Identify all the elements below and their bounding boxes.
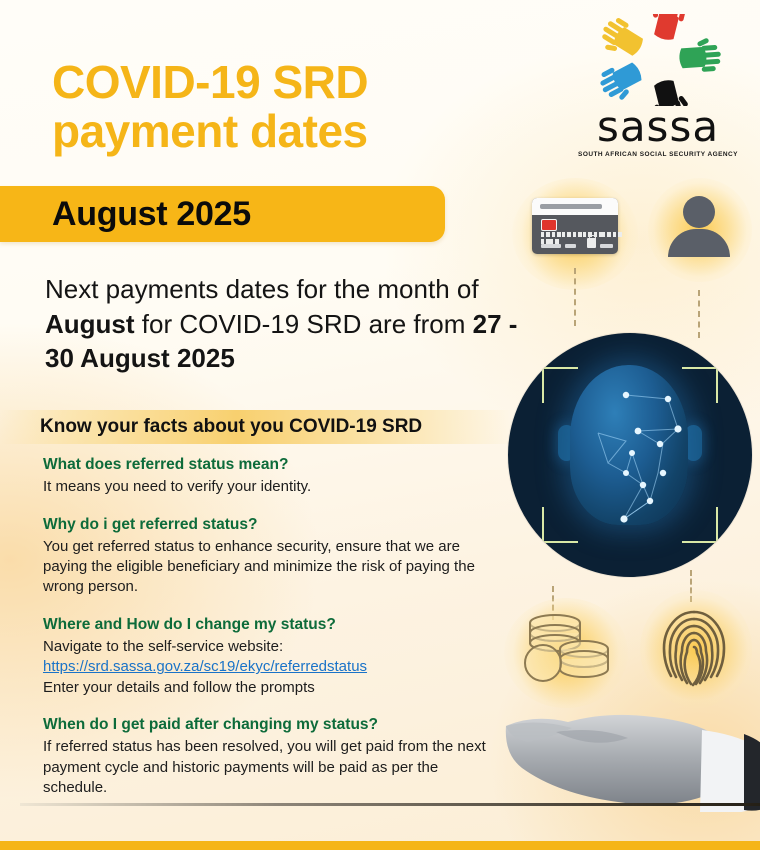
lede-paragraph: Next payments dates for the month of Aug… — [45, 272, 520, 376]
faq-answer: It means you need to verify your identit… — [43, 477, 488, 497]
face-mesh-overlay — [508, 333, 752, 577]
self-service-link[interactable]: https://srd.sassa.gov.za/sc19/ekyc/refer… — [43, 658, 367, 675]
faq-item: When do I get paid after changing my sta… — [43, 715, 488, 798]
title-line-2: payment dates — [52, 107, 472, 156]
faq-answer-intro: Navigate to the self-service website: — [43, 637, 488, 657]
know-your-facts-bar: Know your facts about you COVID-19 SRD — [0, 410, 515, 444]
lede-bold-month: August — [45, 309, 135, 339]
faq-question: Where and How do I change my status? — [43, 615, 488, 635]
fingerprint-glyph — [657, 604, 731, 696]
sassa-hands-emblem — [578, 14, 738, 106]
coins-icon — [521, 612, 613, 684]
faq-question: When do I get paid after changing my sta… — [43, 715, 488, 735]
connector-dash-person — [698, 290, 700, 338]
lede-text-2: for COVID-19 SRD are from — [135, 309, 473, 339]
sassa-subtitle: SOUTH AFRICAN SOCIAL SECURITY AGENCY — [578, 151, 738, 158]
title-line-1: COVID-19 SRD — [52, 56, 368, 108]
bottom-accent-bar — [0, 841, 760, 850]
month-banner: August 2025 — [0, 186, 445, 242]
face-scan-icon — [508, 333, 752, 577]
open-hand-glyph — [496, 704, 760, 812]
bottom-divider — [20, 803, 760, 806]
credit-card-icon — [532, 198, 618, 254]
faq-answer: If referred status has been resolved, yo… — [43, 737, 488, 798]
fingerprint-icon — [657, 604, 731, 696]
faq-list: What does referred status mean? It means… — [43, 455, 488, 815]
faq-item: Where and How do I change my status? Nav… — [43, 615, 488, 698]
faq-question: Why do i get referred status? — [43, 515, 488, 535]
faq-answer: You get referred status to enhance secur… — [43, 537, 488, 598]
sassa-logo: sassa SOUTH AFRICAN SOCIAL SECURITY AGEN… — [578, 14, 738, 162]
lede-text-1: Next payments dates for the month of — [45, 274, 479, 304]
know-your-facts-label: Know your facts about you COVID-19 SRD — [40, 416, 422, 438]
sassa-wordmark: sassa — [578, 106, 738, 148]
faq-question: What does referred status mean? — [43, 455, 488, 475]
coins-glyph — [521, 612, 613, 684]
person-icon — [668, 196, 730, 256]
poster-canvas: sassa SOUTH AFRICAN SOCIAL SECURITY AGEN… — [0, 0, 760, 850]
open-hand-icon — [496, 704, 760, 812]
faq-item: What does referred status mean? It means… — [43, 455, 488, 498]
connector-dash-card — [574, 268, 576, 326]
faq-item: Why do i get referred status? You get re… — [43, 515, 488, 598]
faq-answer-outro: Enter your details and follow the prompt… — [43, 678, 488, 698]
month-banner-label: August 2025 — [52, 195, 251, 234]
page-title: COVID-19 SRD payment dates — [52, 58, 472, 156]
